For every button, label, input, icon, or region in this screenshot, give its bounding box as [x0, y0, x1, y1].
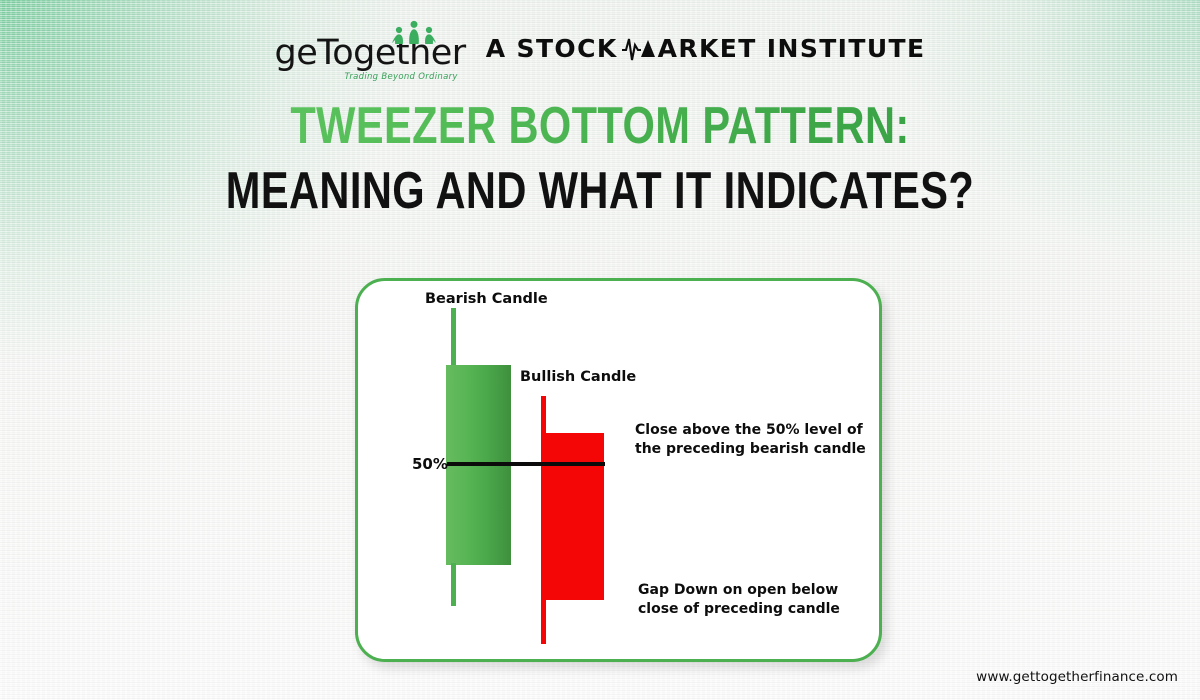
page-title: TWEEZER BOTTOM PATTERN: MEANING AND WHAT… — [0, 100, 1200, 218]
candlestick-chart: 50% Bearish Candle Bullish Candle Close … — [358, 281, 879, 659]
annotation-close-above-50: Close above the 50% level of the precedi… — [635, 421, 866, 459]
bullish-candle-wick-upper — [541, 396, 546, 436]
institute-tagline: A STOCK ARKET INSTITUTE — [486, 34, 926, 63]
sprout-people-icon — [390, 19, 438, 45]
annotation-gap-down-line2: close of preceding candle — [638, 600, 840, 619]
annotation-gap-down: Gap Down on open below close of precedin… — [638, 581, 840, 619]
bullish-candle-body — [541, 433, 604, 600]
brand-header: geTogether Trading Beyond Ordinary A STO… — [0, 26, 1200, 71]
institute-text-after: ARKET INSTITUTE — [658, 34, 926, 63]
fifty-percent-label: 50% — [412, 455, 448, 473]
logo-word-cap: T — [317, 33, 332, 73]
annotation-close-above-50-line2: the preceding bearish candle — [635, 440, 866, 459]
institute-text-before: A STOCK — [486, 34, 618, 63]
chart-card: 50% Bearish Candle Bullish Candle Close … — [355, 278, 882, 662]
annotation-gap-down-line1: Gap Down on open below — [638, 581, 840, 600]
title-line-1: TWEEZER BOTTOM PATTERN: — [120, 100, 1080, 153]
gettogether-logo[interactable]: geTogether Trading Beyond Ordinary — [275, 26, 466, 71]
bullish-candle-label: Bullish Candle — [520, 368, 636, 387]
bearish-candle-wick-lower — [451, 563, 456, 606]
bullish-candle-wick-lower — [541, 598, 546, 644]
heartbeat-pulse-icon — [621, 35, 657, 63]
annotation-close-above-50-line1: Close above the 50% level of — [635, 421, 866, 440]
logo-word-part1: ge — [275, 33, 318, 73]
logo-tagline: Trading Beyond Ordinary — [344, 72, 457, 82]
bearish-candle-wick-upper — [451, 308, 456, 368]
fifty-percent-level-line — [447, 462, 605, 466]
poster-canvas: geTogether Trading Beyond Ordinary A STO… — [0, 0, 1200, 700]
title-line-2: MEANING AND WHAT IT INDICATES? — [120, 165, 1080, 218]
bearish-candle-label: Bearish Candle — [425, 290, 548, 309]
footer-website-url[interactable]: www.gettogetherfinance.com — [976, 669, 1178, 685]
